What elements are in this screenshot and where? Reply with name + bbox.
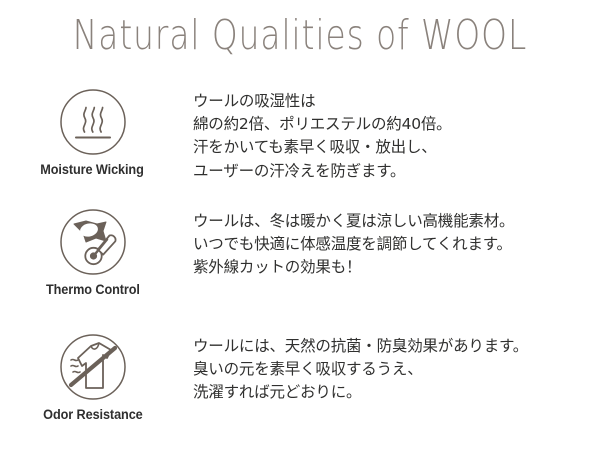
- feature-text-line: ウールは、冬は暖かく夏は涼しい高機能素材。: [193, 210, 590, 233]
- page-title: Natural Qualities of WOOL: [60, 14, 540, 57]
- feature-icon-column: Thermo Control: [0, 208, 185, 297]
- feature-text-line: 洗濯すれば元どおりに。: [193, 381, 590, 404]
- feature-text-line: 臭いの元を素早く吸収するうえ、: [193, 358, 590, 381]
- feature-text-block: ウールは、冬は暖かく夏は涼しい高機能素材。 いつでも快適に体感温度を調節してくれ…: [185, 208, 600, 280]
- feature-label: Odor Resistance: [43, 407, 142, 422]
- feature-text-line: ユーザーの汗冷えを防ぎます。: [193, 160, 590, 183]
- feature-text-line: 紫外線カットの効果も！: [193, 256, 590, 279]
- feature-text-block: ウールの吸湿性は 綿の約2倍、ポリエステルの約40倍。 汗をかいても素早く吸収・…: [185, 88, 600, 183]
- feature-text-line: 汗をかいても素早く吸収・放出し、: [193, 136, 590, 159]
- odor-resistance-icon: [59, 333, 127, 401]
- feature-text-block: ウールには、天然の抗菌・防臭効果があります。 臭いの元を素早く吸収するうえ、 洗…: [185, 333, 600, 405]
- moisture-wicking-icon: [59, 88, 127, 156]
- feature-icon-column: Moisture Wicking: [0, 88, 185, 177]
- feature-text-line: 綿の約2倍、ポリエステルの約40倍。: [193, 113, 590, 136]
- feature-row: Moisture Wicking ウールの吸湿性は 綿の約2倍、ポリエステルの約…: [0, 88, 600, 183]
- feature-label: Thermo Control: [46, 282, 140, 297]
- feature-row: Thermo Control ウールは、冬は暖かく夏は涼しい高機能素材。 いつで…: [0, 208, 600, 297]
- feature-text-line: ウールには、天然の抗菌・防臭効果があります。: [193, 335, 590, 358]
- feature-row: Odor Resistance ウールには、天然の抗菌・防臭効果があります。 臭…: [0, 333, 600, 422]
- feature-text-line: ウールの吸湿性は: [193, 90, 590, 113]
- feature-label: Moisture Wicking: [41, 162, 144, 177]
- thermo-control-icon: [59, 208, 127, 276]
- poster-root: Natural Qualities of WOOL Moisture Wicki…: [0, 0, 600, 450]
- feature-text-line: いつでも快適に体感温度を調節してくれます。: [193, 233, 590, 256]
- feature-icon-column: Odor Resistance: [0, 333, 185, 422]
